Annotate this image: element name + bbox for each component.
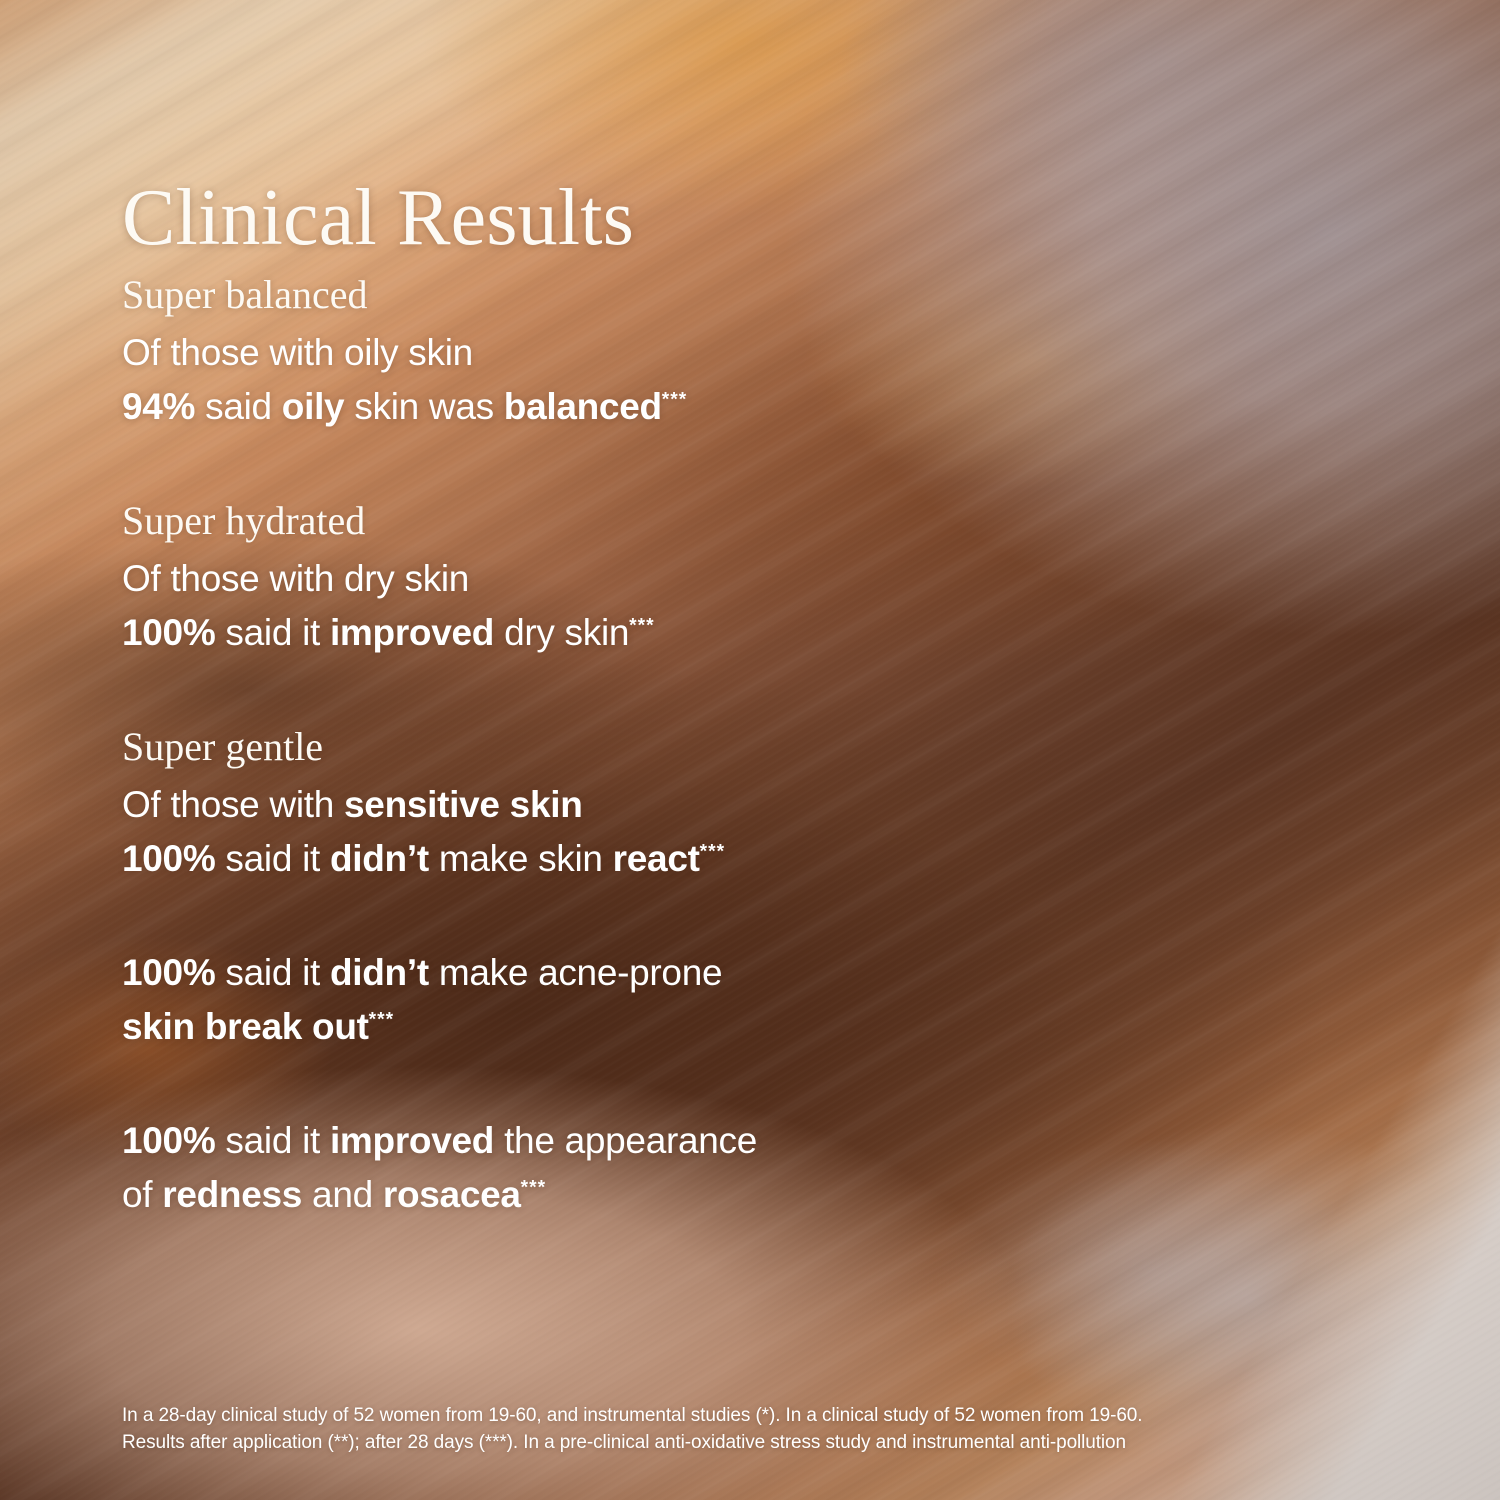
plain-text: the appearance xyxy=(494,1120,757,1161)
stat-line: 100% said it improved the appearance xyxy=(122,1114,1122,1168)
section-heading: Super hydrated xyxy=(122,494,1122,548)
section-heading: Super gentle xyxy=(122,720,1122,774)
emphasis-text: didn’t xyxy=(330,952,429,993)
content-container: Clinical Results Super balancedOf those … xyxy=(0,0,1500,1500)
plain-text: Of those with xyxy=(122,784,344,825)
emphasis-text: 100% xyxy=(122,1120,215,1161)
plain-text: said it xyxy=(215,612,330,653)
plain-text: said it xyxy=(215,952,330,993)
footnote-line-1: In a 28-day clinical study of 52 women f… xyxy=(122,1402,1412,1429)
stat-line: 100% said it didn’t make acne-prone xyxy=(122,946,1122,1000)
plain-text: said xyxy=(195,386,282,427)
page-title: Clinical Results xyxy=(122,178,634,258)
plain-text: dry skin xyxy=(494,612,629,653)
stat-line: 100% said it didn’t make skin react*** xyxy=(122,832,1122,886)
plain-text: Of those with oily skin xyxy=(122,332,473,373)
result-paragraph: 100% said it improved the appearanceof r… xyxy=(122,1114,1122,1222)
footnote-disclaimer: In a 28-day clinical study of 52 women f… xyxy=(122,1402,1412,1456)
emphasis-text: 100% xyxy=(122,838,215,879)
emphasis-text: 100% xyxy=(122,612,215,653)
plain-text: said it xyxy=(215,1120,330,1161)
result-section: Super gentleOf those with sensitive skin… xyxy=(122,720,1122,886)
plain-text: Of those with dry skin xyxy=(122,558,469,599)
stat-line: Of those with sensitive skin xyxy=(122,778,1122,832)
results-sections: Super balancedOf those with oily skin94%… xyxy=(122,268,1122,1222)
plain-text: make skin xyxy=(429,838,613,879)
footnote-marker: *** xyxy=(521,1178,546,1199)
stat-line: of redness and rosacea*** xyxy=(122,1168,1122,1222)
stat-line: Of those with dry skin xyxy=(122,552,1122,606)
emphasis-text: skin break out xyxy=(122,1006,369,1047)
plain-text: and xyxy=(302,1174,383,1215)
result-paragraph: 100% said it didn’t make acne-proneskin … xyxy=(122,946,1122,1054)
plain-text: skin was xyxy=(344,386,503,427)
emphasis-text: redness xyxy=(162,1174,302,1215)
emphasis-text: 94% xyxy=(122,386,195,427)
emphasis-text: didn’t xyxy=(330,838,429,879)
emphasis-text: oily xyxy=(282,386,345,427)
emphasis-text: balanced xyxy=(504,386,662,427)
section-heading: Super balanced xyxy=(122,268,1122,322)
result-section: Super balancedOf those with oily skin94%… xyxy=(122,268,1122,434)
footnote-marker: *** xyxy=(700,842,725,863)
emphasis-text: improved xyxy=(330,612,494,653)
emphasis-text: sensitive skin xyxy=(344,784,583,825)
emphasis-text: improved xyxy=(330,1120,494,1161)
stat-line: skin break out*** xyxy=(122,1000,1122,1054)
plain-text: make acne-prone xyxy=(429,952,722,993)
footnote-marker: *** xyxy=(369,1010,394,1031)
stat-line: 100% said it improved dry skin*** xyxy=(122,606,1122,660)
footnote-line-2: Results after application (**); after 28… xyxy=(122,1429,1412,1456)
plain-text: said it xyxy=(215,838,330,879)
emphasis-text: 100% xyxy=(122,952,215,993)
result-section: Super hydratedOf those with dry skin100%… xyxy=(122,494,1122,660)
footnote-marker: *** xyxy=(629,616,654,637)
plain-text: of xyxy=(122,1174,162,1215)
stat-line: Of those with oily skin xyxy=(122,326,1122,380)
emphasis-text: rosacea xyxy=(383,1174,521,1215)
clinical-results-card: Clinical Results Super balancedOf those … xyxy=(0,0,1500,1500)
stat-line: 94% said oily skin was balanced*** xyxy=(122,380,1122,434)
emphasis-text: react xyxy=(613,838,700,879)
footnote-marker: *** xyxy=(662,390,687,411)
